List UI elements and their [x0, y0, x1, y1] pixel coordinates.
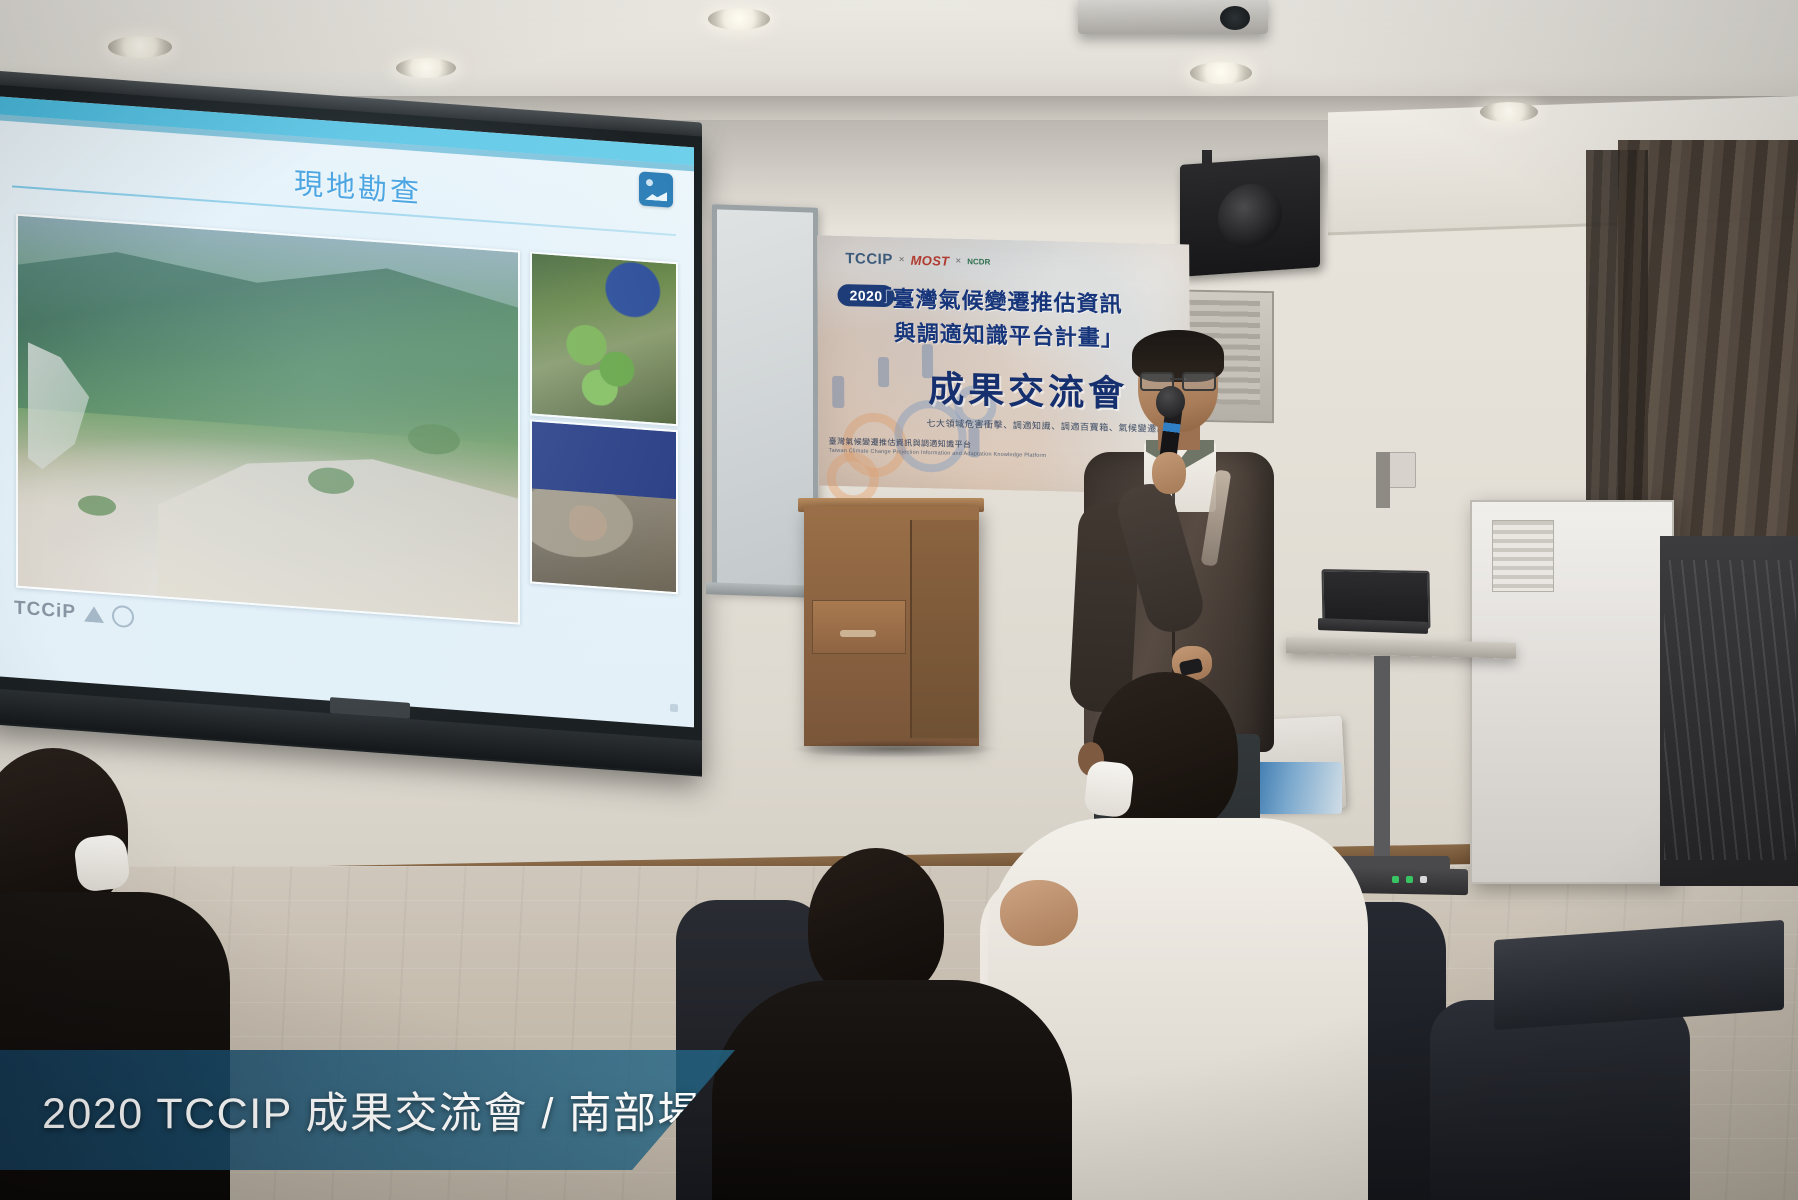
downlight-icon [1480, 102, 1538, 122]
desk-support-leg [1374, 656, 1390, 866]
banner-title-line-1: 「臺灣氣候變遷推估資訊 [869, 281, 1122, 319]
audience-member-head [808, 848, 944, 1000]
vegetation-patch [78, 494, 116, 517]
projected-slide: 現地勘查 TCCiP [0, 96, 694, 727]
logo-separator-icon: × [955, 256, 961, 267]
mountain-ridge [16, 236, 520, 446]
slide-corner-mark [670, 704, 678, 713]
cabinet-door [910, 520, 978, 738]
status-led-icon [1420, 876, 1427, 883]
caption-title: 2020 TCCIP 成果交流會 / 南部場 [0, 1079, 702, 1141]
rack-vent-grille [1492, 520, 1554, 592]
downlight-icon [108, 36, 172, 58]
face-mask [1083, 760, 1134, 819]
downlight-icon [708, 8, 770, 30]
slide-title: 現地勘查 [294, 160, 422, 211]
cabinet-drawer-handle [840, 630, 876, 637]
vegetation-detail [558, 303, 653, 409]
face-mask [73, 833, 131, 893]
audience-member-hand [1000, 880, 1078, 946]
cabinet-drawer [812, 600, 906, 654]
slide-footer-logo: TCCiP [14, 597, 134, 628]
status-led-icon [1406, 876, 1413, 883]
wall-control-plate [1388, 452, 1416, 488]
status-led-icon [1392, 876, 1399, 883]
window-curtain-secondary [1586, 150, 1648, 550]
whiteboard [712, 204, 818, 596]
rock-surface [532, 489, 676, 592]
downlight-icon [1190, 62, 1252, 84]
cable-bundle [1664, 560, 1796, 860]
field-survey-rock-sampling-photo [530, 419, 678, 594]
banner-partner-logos: TCCIP × MOST × NCDR [845, 250, 990, 271]
ncdr-logo-text: NCDR [967, 257, 990, 267]
logo-separator-icon: × [899, 254, 905, 265]
field-survey-vegetation-photo [530, 251, 678, 426]
most-logo-text: MOST [911, 253, 950, 269]
monitor-mount-arm [1376, 452, 1390, 508]
tccip-logo-text: TCCIP [845, 250, 893, 268]
projector-lens-icon [1220, 6, 1250, 30]
presentation-photo: 現地勘查 TCCiP [0, 0, 1798, 1200]
ncdr-mark-icon [84, 606, 104, 623]
audience-member-body [712, 980, 1072, 1200]
downlight-icon [396, 58, 456, 78]
landslide-valley-aerial-photo [16, 214, 520, 625]
audience-chair [1430, 1000, 1690, 1200]
caption-banner: 2020 TCCIP 成果交流會 / 南部場 [0, 1050, 735, 1170]
presenter-hand-holding-mic [1152, 452, 1186, 494]
cabinet-shadow [790, 740, 1000, 758]
photo-landscape-icon [639, 171, 673, 207]
eyeglasses-icon [1140, 372, 1216, 388]
partner-mark-icon [112, 605, 134, 629]
landslide-scar [158, 433, 520, 624]
lens-right [1182, 372, 1216, 391]
slide-logo-text: TCCiP [14, 597, 76, 624]
